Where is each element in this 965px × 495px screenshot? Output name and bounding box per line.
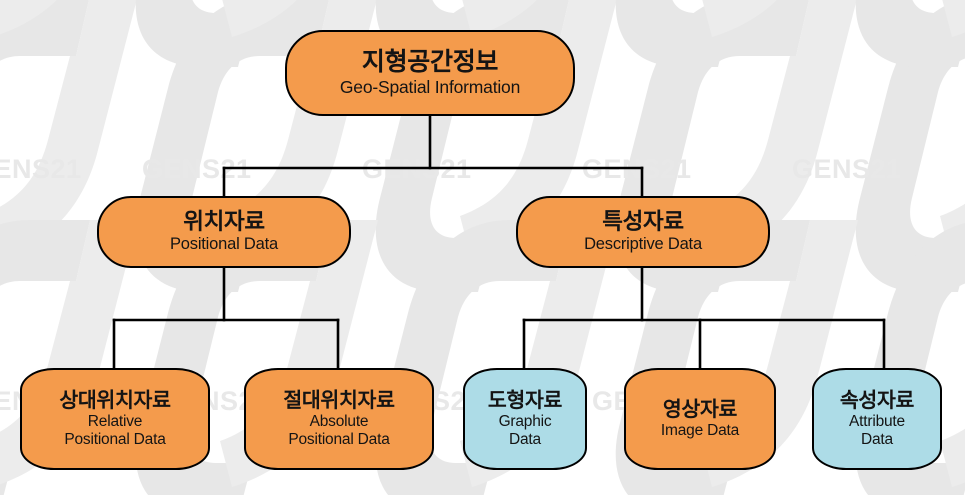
node-label-ko: 위치자료 (183, 210, 265, 234)
node-label-en-2: Data (861, 432, 893, 449)
node-label-ko: 절대위치자료 (283, 390, 394, 412)
node-label-ko: 영상자료 (663, 399, 737, 421)
node-label-ko: 속성자료 (840, 390, 914, 412)
node-label-ko: 특성자료 (602, 210, 684, 234)
node-label-en-2: Positional Data (64, 432, 165, 449)
node-absolute-positional-data[interactable]: 절대위치자료 Absolute Positional Data (244, 368, 434, 470)
node-attribute-data[interactable]: 속성자료 Attribute Data (812, 368, 942, 470)
node-label-en: Descriptive Data (584, 236, 702, 254)
node-label-ko: 지형공간정보 (362, 49, 498, 76)
node-label-en-2: Positional Data (288, 432, 389, 449)
node-label-en-1: Absolute (310, 414, 369, 431)
node-label-en-1: Graphic (499, 414, 552, 431)
node-image-data[interactable]: 영상자료 Image Data (624, 368, 776, 470)
node-label-ko: 도형자료 (488, 390, 562, 412)
node-positional-data[interactable]: 위치자료 Positional Data (97, 196, 351, 268)
node-layer: 지형공간정보 Geo-Spatial Information 위치자료 Posi… (0, 0, 965, 495)
node-label-en-1: Relative (88, 414, 142, 431)
node-relative-positional-data[interactable]: 상대위치자료 Relative Positional Data (20, 368, 210, 470)
node-geo-spatial-information[interactable]: 지형공간정보 Geo-Spatial Information (285, 30, 575, 116)
node-label-en: Geo-Spatial Information (340, 78, 520, 97)
node-label-en: Positional Data (170, 236, 278, 254)
node-label-en-1: Image Data (661, 423, 739, 440)
node-descriptive-data[interactable]: 특성자료 Descriptive Data (516, 196, 770, 268)
node-graphic-data[interactable]: 도형자료 Graphic Data (463, 368, 587, 470)
node-label-en-1: Attribute (849, 414, 905, 431)
node-label-en-2: Data (509, 432, 541, 449)
diagram-canvas: GENS21 (0, 0, 965, 495)
node-label-ko: 상대위치자료 (59, 390, 170, 412)
